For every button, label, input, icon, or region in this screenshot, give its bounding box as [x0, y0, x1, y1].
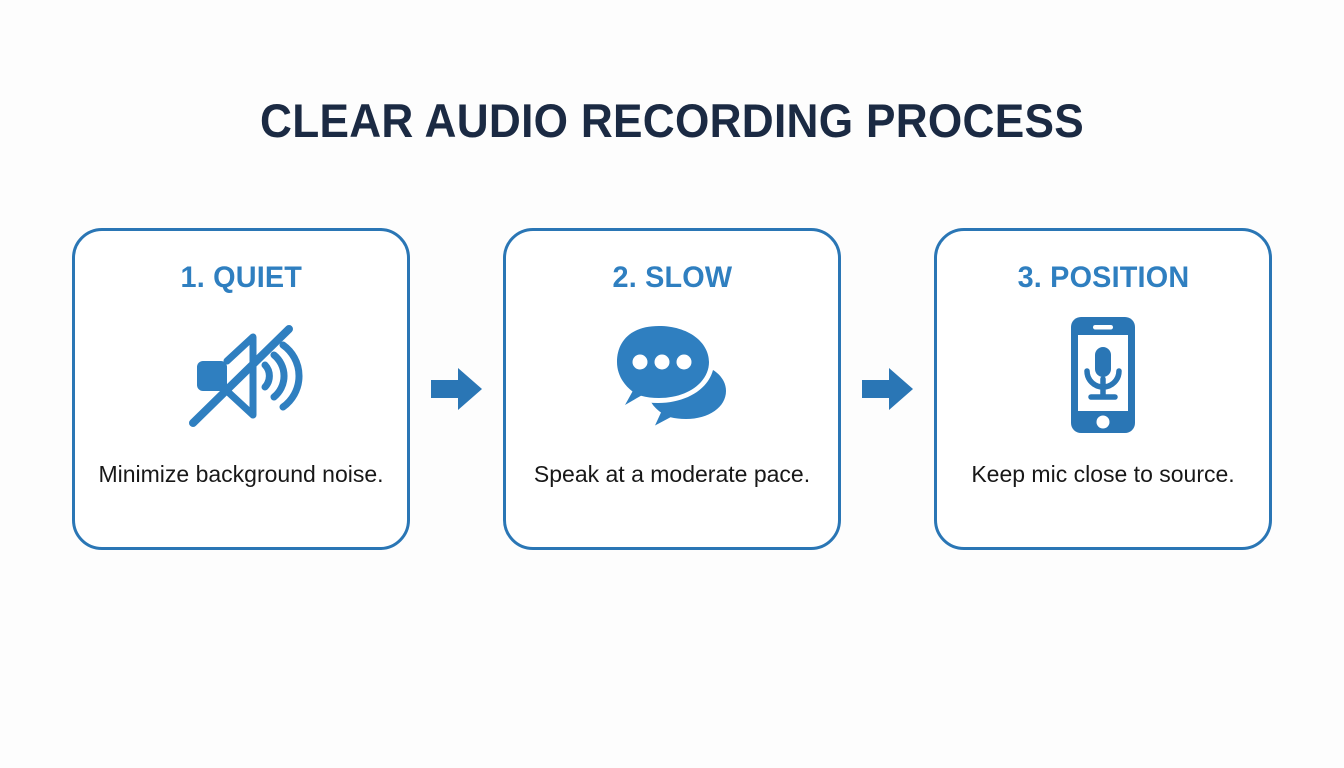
step-heading: 1. QUIET: [180, 261, 302, 295]
step-description: Speak at a moderate pace.: [527, 457, 817, 491]
speech-bubbles-icon: [610, 311, 734, 439]
page-title: CLEAR AUDIO RECORDING PROCESS: [40, 92, 1303, 150]
step-card-position[interactable]: 3. POSITION Keep mic close: [934, 228, 1272, 550]
step-card-quiet[interactable]: 1. QUIET Minimize background noise.: [72, 228, 410, 550]
step-heading: 3. POSITION: [1017, 261, 1189, 295]
arrow-right-icon: [431, 367, 483, 411]
step-description: Keep mic close to source.: [958, 457, 1248, 491]
speaker-mute-icon: [179, 311, 303, 439]
process-flow: 1. QUIET Minimize background noise. 2.: [72, 228, 1272, 550]
step-heading: 2. SLOW: [612, 261, 732, 295]
step-card-slow[interactable]: 2. SLOW Speak at a moderate pace.: [503, 228, 841, 550]
arrow-right-icon: [862, 367, 914, 411]
step-description: Minimize background noise.: [96, 457, 386, 491]
phone-microphone-icon: [1041, 311, 1165, 439]
